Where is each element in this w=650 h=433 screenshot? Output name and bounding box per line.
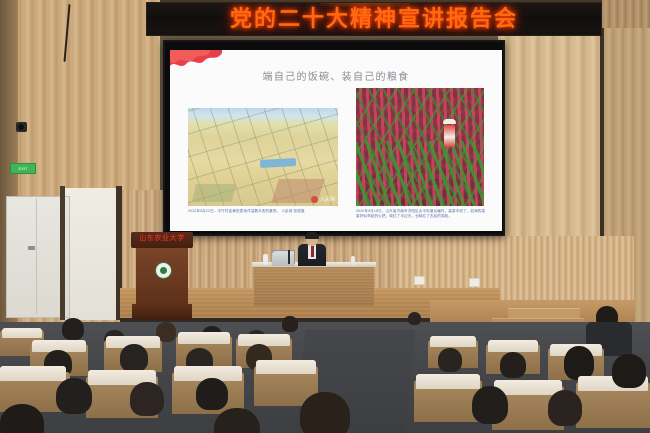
table-grain (254, 267, 374, 306)
photo-caption-left: 2022年5月22日，中圩村金黄的麦地洋溢着丰收的喜悦。 人民网 张俊摄 (188, 209, 340, 214)
sorghum-leaves-foreground (356, 141, 484, 206)
wall-socket (469, 278, 480, 287)
audience-head (438, 348, 462, 372)
seat-cushion (178, 332, 230, 344)
door-seam (36, 198, 37, 314)
podium-base (132, 304, 192, 320)
university-emblem-icon (155, 262, 172, 279)
wall-socket (414, 276, 425, 285)
water-bottle (263, 254, 268, 265)
projection-screen: 端自己的饭碗、装自己的粮食 人民网 2022年5月22日，中圩村金黄的麦地洋溢着… (163, 40, 505, 236)
ceiling-panel-right (602, 0, 650, 30)
seat-cushion (0, 366, 66, 381)
slide-title: 端自己的饭碗、装自己的粮食 (170, 68, 502, 83)
microphone (288, 250, 290, 264)
head-table (252, 262, 376, 306)
auditorium-photo: EXIT 党的二十大精神宣讲报告会 端自己的饭碗、装自己的粮食 (0, 0, 650, 433)
photo-caption-right: 2020年9月16日，山东省济南市济阳区太平街道台塘村，高粱丰收了，如海的高粱好… (356, 209, 488, 220)
watermark-label: 人民网 (320, 196, 335, 203)
laptop (272, 252, 295, 266)
audience-head (282, 316, 298, 332)
speaker-hair (305, 232, 319, 239)
audience-head (472, 386, 508, 424)
audience-head (300, 392, 350, 433)
slide-photo-wheat-field: 人民网 (188, 108, 338, 206)
audience-head (62, 318, 84, 340)
presentation-slide: 端自己的饭碗、装自己的粮食 人民网 2022年5月22日，中圩村金黄的麦地洋溢着… (170, 50, 502, 231)
led-banner-text: 党的二十大精神宣讲报告会 (230, 8, 518, 30)
podium-inscription: 山东农业大学 (131, 233, 193, 243)
audience-head (564, 346, 594, 380)
watermark-logo-icon (311, 196, 318, 203)
audience-head (0, 404, 44, 433)
audience-head (196, 378, 228, 410)
speaker-tie (311, 246, 314, 257)
table-front-panel (254, 267, 374, 306)
farmer-hat-icon (443, 119, 456, 124)
door-handle[interactable] (28, 246, 35, 250)
audience-head (130, 382, 164, 416)
audience-head (120, 344, 148, 372)
camera-lens-icon (18, 124, 24, 130)
seat-cushion (488, 340, 538, 352)
speaker-person (297, 233, 327, 265)
seat-cushion (416, 374, 480, 389)
led-banner: 党的二十大精神宣讲报告会 (146, 2, 602, 36)
exit-sign: EXIT (10, 163, 36, 174)
door-jamb-left (60, 186, 65, 320)
seat-cushion (430, 336, 476, 347)
seat-cushion (256, 360, 316, 374)
farmer-figure (444, 125, 455, 147)
audience-head (408, 312, 421, 325)
audience-head (56, 378, 92, 414)
water-bottle (351, 256, 355, 265)
audience-head (548, 390, 582, 426)
audience-head (612, 354, 646, 388)
podium: 山东农业大学 (131, 232, 193, 320)
seat-cushion (2, 328, 42, 338)
wall-recess-left (62, 188, 118, 320)
field-plot-green (192, 184, 236, 202)
exit-sign-label: EXIT (19, 166, 28, 171)
slide-photo-sorghum-field (356, 88, 484, 206)
photo-watermark: 人民网 (311, 196, 335, 203)
audience-head (500, 352, 526, 378)
